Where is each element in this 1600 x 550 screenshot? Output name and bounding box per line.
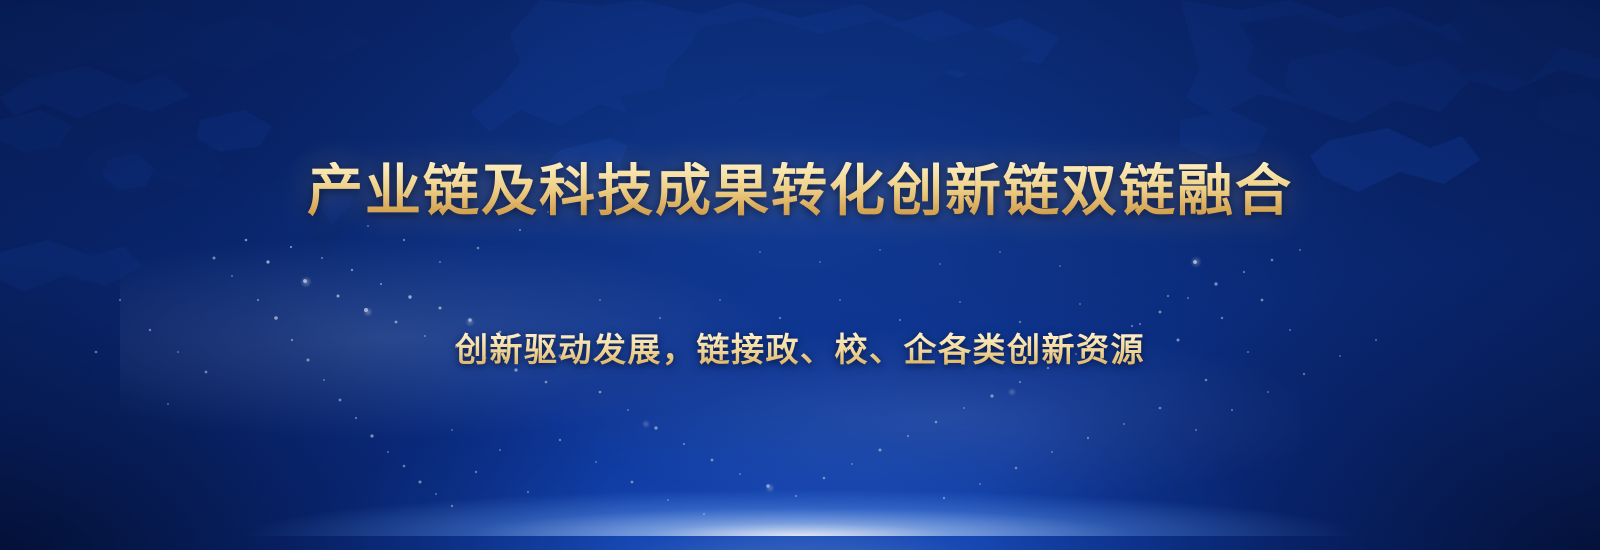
banner-content: 产业链及科技成果转化创新链双链融合 产业链及科技成果转化创新链双链融合 创新驱动… — [0, 0, 1600, 550]
hero-banner: 产业链及科技成果转化创新链双链融合 产业链及科技成果转化创新链双链融合 创新驱动… — [0, 0, 1600, 550]
banner-title: 产业链及科技成果转化创新链双链融合 — [0, 162, 1600, 221]
banner-subtitle: 创新驱动发展，链接政、校、企各类创新资源 — [0, 330, 1600, 370]
